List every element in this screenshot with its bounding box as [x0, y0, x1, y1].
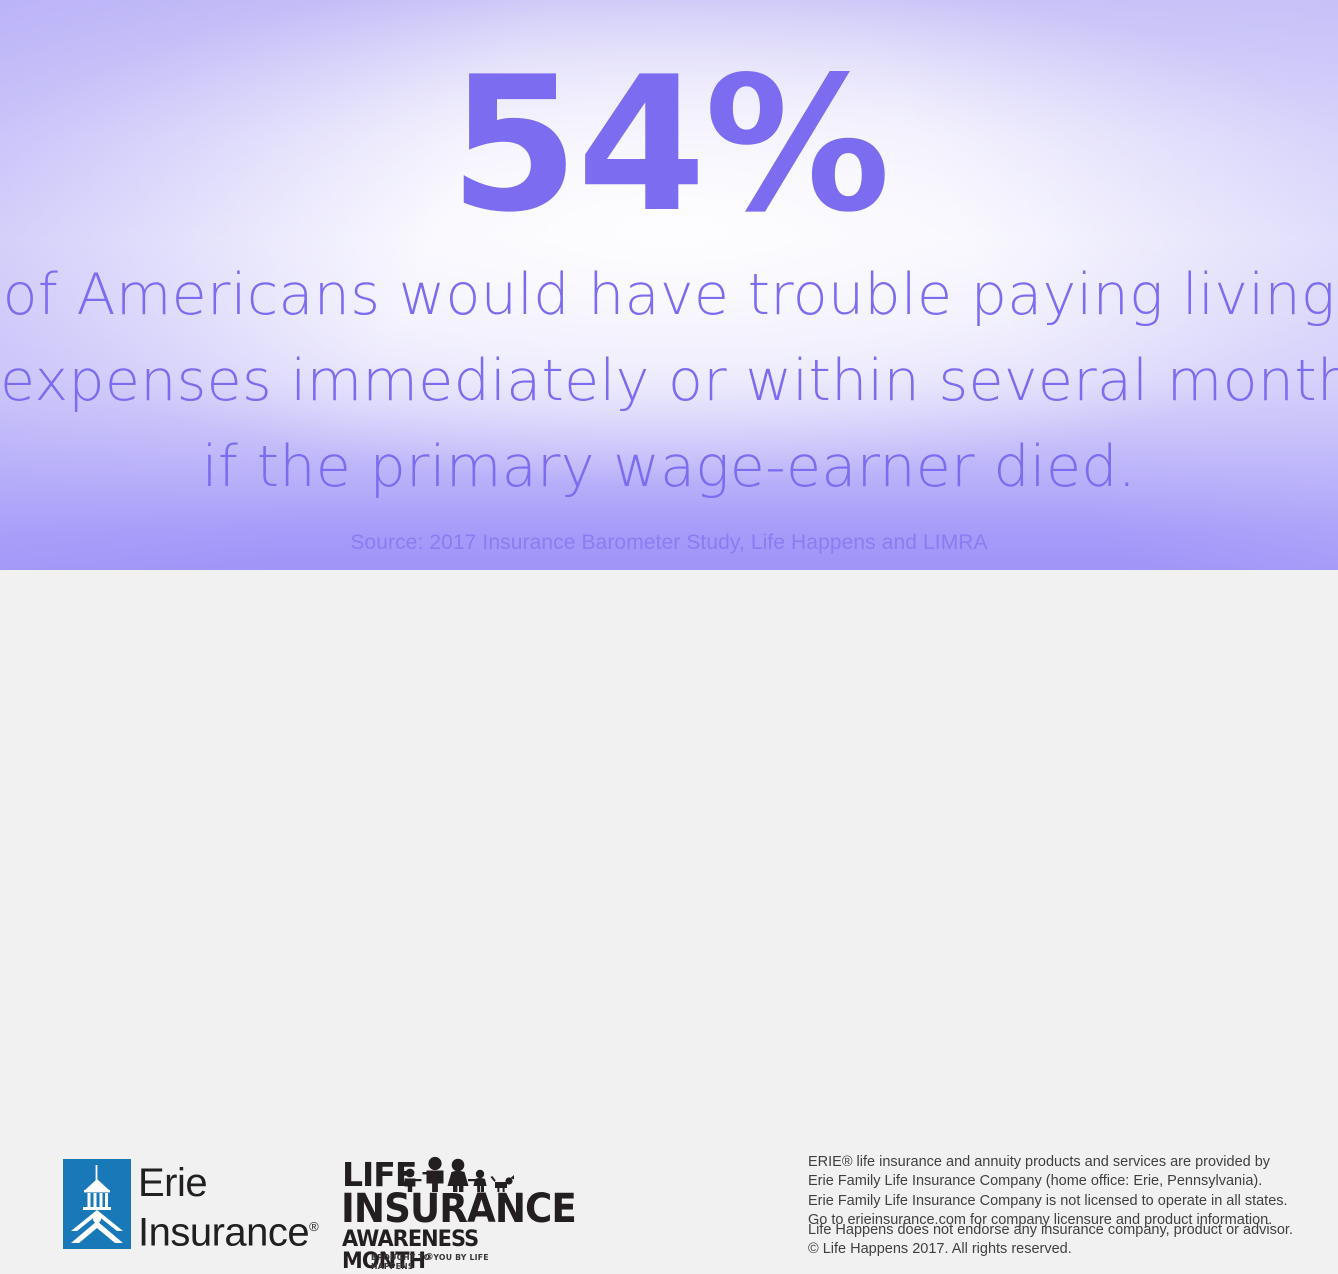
registered-trademark-icon: ®: [309, 1219, 318, 1234]
statement-text: of Americans would have trouble paying l…: [0, 252, 1338, 510]
source-attribution: Source: 2017 Insurance Barometer Study, …: [0, 531, 1338, 555]
statement-line-1: of Americans would have trouble paying l…: [0, 252, 1338, 338]
family-silhouette-icon: [398, 1156, 516, 1192]
life-happens-copyright: © Life Happens 2017. All rights reserved…: [808, 1240, 1293, 1259]
erie-insurance-logo[interactable]: Erie Insurance®: [63, 1159, 308, 1251]
erie-disclaimer-line-1: ERIE® life insurance and annuity product…: [808, 1153, 1288, 1172]
life-insurance-awareness-month-logo[interactable]: LIFE: [340, 1156, 530, 1252]
erie-wordmark: Erie Insurance®: [138, 1161, 318, 1254]
statement-line-2: expenses immediately or within several m…: [0, 338, 1338, 424]
footer-bar: Erie Insurance® LIFE: [0, 570, 1338, 700]
erie-cupola-icon: [63, 1159, 131, 1249]
erie-wordmark-line-2-text: Insurance: [138, 1210, 309, 1254]
life-happens-disclaimer-line-1: Life Happens does not endorse any insura…: [808, 1221, 1293, 1240]
erie-disclaimer: ERIE® life insurance and annuity product…: [808, 1153, 1288, 1230]
hero-gradient-panel: 54% of Americans would have trouble payi…: [0, 0, 1338, 570]
liam-line-2: INSURANCE: [341, 1189, 576, 1229]
erie-wordmark-line-2: Insurance®: [138, 1205, 318, 1254]
statement-line-3: if the primary wage-earner died.: [0, 424, 1338, 510]
statistic-headline: 54%: [0, 52, 1338, 238]
infographic-poster: 54% of Americans would have trouble payi…: [0, 0, 1338, 700]
erie-wordmark-line-1: Erie: [138, 1161, 318, 1205]
hero-content: 54% of Americans would have trouble payi…: [0, 0, 1338, 570]
erie-disclaimer-line-3: Erie Family Life Insurance Company is no…: [808, 1192, 1288, 1211]
liam-tagline: BROUGHT TO YOU BY LIFE HAPPENS: [371, 1253, 525, 1271]
erie-disclaimer-line-2: Erie Family Life Insurance Company (home…: [808, 1172, 1288, 1191]
life-happens-disclaimer: Life Happens does not endorse any insura…: [808, 1221, 1293, 1260]
